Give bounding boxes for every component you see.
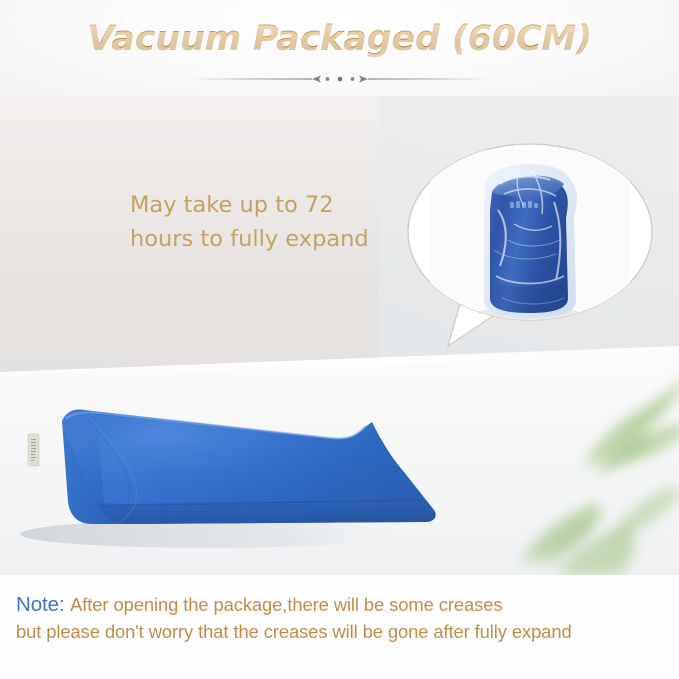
callout-line-2: hours to fully expand (130, 222, 430, 256)
callout-text: May take up to 72 hours to fully expand (130, 188, 430, 256)
product-photo-scene: May take up to 72 hours to fully expand (0, 96, 679, 575)
callout-line-1: May take up to 72 (130, 192, 334, 218)
note-text: Note: After opening the package,there wi… (16, 591, 671, 645)
note-label: Note: (16, 593, 70, 616)
blue-wedge-pillow (0, 326, 470, 556)
note-line-1: After opening the package,there will be … (70, 594, 502, 615)
note-section: Note: After opening the package,there wi… (0, 575, 679, 679)
vacuum-pack-photo (430, 150, 630, 326)
ornamental-divider (190, 72, 490, 84)
speech-bubble (404, 140, 656, 352)
brand-label-tag (28, 434, 39, 466)
page-title: Vacuum Packaged (60CM) (0, 19, 679, 59)
note-line-2: but please don't worry that the creases … (16, 618, 671, 645)
plant-decoration (479, 375, 679, 575)
product-infographic: Vacuum Packaged (60CM) (0, 0, 679, 679)
